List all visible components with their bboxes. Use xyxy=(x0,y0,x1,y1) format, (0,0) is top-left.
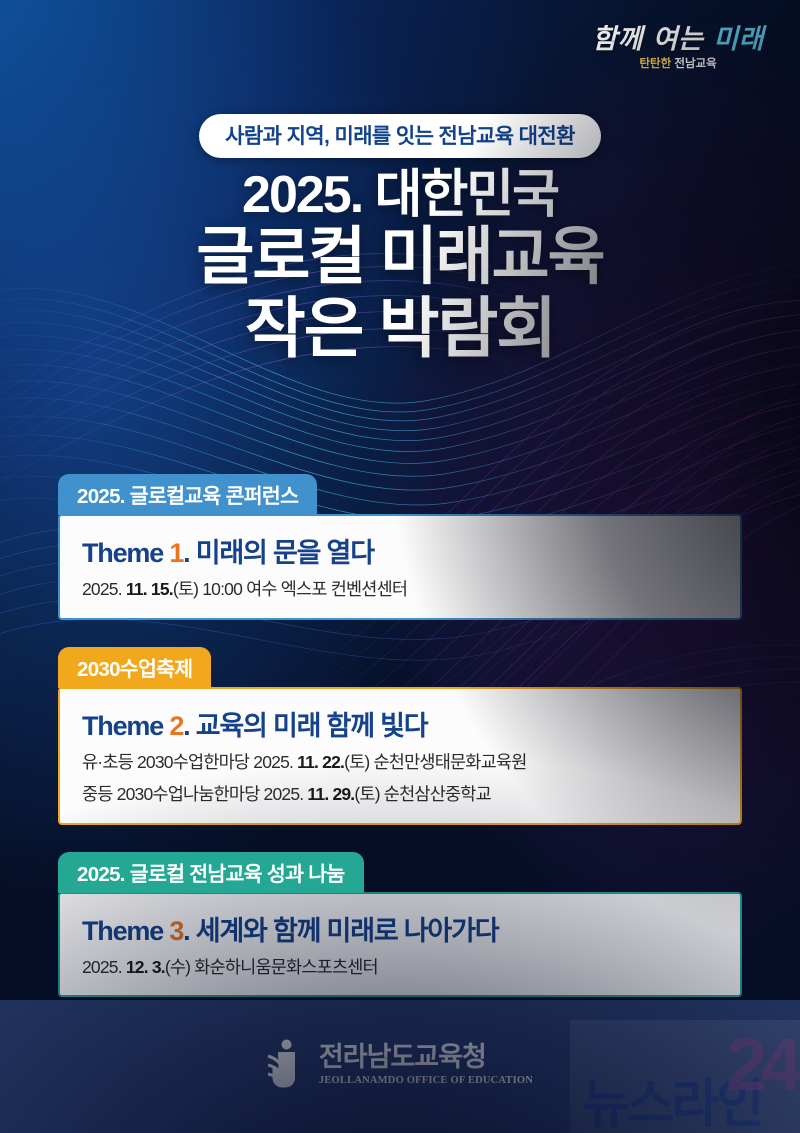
theme-title: Theme 1. 미래의 문을 열다 xyxy=(82,531,718,570)
page-title: 2025. 대한민국 글로컬 미래교육 작은 박람회 xyxy=(0,168,800,365)
brand-logo: 함께 여는 미래 탄탄한 전남교육 xyxy=(592,26,764,71)
title-line-3: 작은 박람회 xyxy=(0,292,800,365)
brand-subtitle-highlight: 탄탄한 xyxy=(639,58,674,70)
detail-post: (토) 10:00 여수 엑스포 컨벤션센터 xyxy=(173,579,407,599)
theme-number: 3 xyxy=(169,916,183,946)
detail-post: (토) 순천삼산중학교 xyxy=(354,784,491,804)
brand-subtitle: 탄탄한 전남교육 xyxy=(592,59,764,71)
detail-pre: 2025. xyxy=(82,579,126,599)
organization-name: 전라남도교육청 JEOLLANAMDO OFFICE OF EDUCATION xyxy=(319,1044,533,1087)
theme-prefix: Theme xyxy=(82,711,169,741)
theme-suffix: . 교육의 미래 함께 빛다 xyxy=(183,711,427,741)
news-watermark: 뉴스라인 24 xyxy=(570,1020,800,1133)
detail-date: 11. 22. xyxy=(297,752,344,772)
title-line-2: 글로컬 미래교육 xyxy=(0,223,800,292)
theme-detail-line: 2025. 12. 3.(수) 화순하니움문화스포츠센터 xyxy=(82,955,718,980)
theme-title: Theme 3. 세계와 함께 미래로 나아가다 xyxy=(82,909,718,948)
theme-card[interactable]: 2025. 글로컬 전남교육 성과 나눔 Theme 3. 세계와 함께 미래로… xyxy=(58,852,742,999)
theme-suffix: . 미래의 문을 열다 xyxy=(183,538,374,568)
theme-card[interactable]: 2025. 글로컬교육 콘퍼런스 Theme 1. 미래의 문을 열다 2025… xyxy=(58,474,742,621)
detail-post: (토) 순천만생태문화교육원 xyxy=(344,752,526,772)
brand-subtitle-rest: 전남교육 xyxy=(674,58,716,70)
tagline-pill: 사람과 지역, 미래를 잇는 전남교육 대전환 xyxy=(0,114,800,158)
theme-detail-line: 2025. 11. 15.(토) 10:00 여수 엑스포 컨벤션센터 xyxy=(82,577,718,602)
theme-prefix: Theme xyxy=(82,916,169,946)
detail-post: (수) 화순하니움문화스포츠센터 xyxy=(165,957,378,977)
org-name-korean: 전라남도교육청 xyxy=(319,1044,533,1071)
theme-detail-line: 유·초등 2030수업한마당 2025. 11. 22.(토) 순천만생태문화교… xyxy=(82,750,718,775)
theme-detail-line: 중등 2030수업나눔한마당 2025. 11. 29.(토) 순천삼산중학교 xyxy=(82,782,718,807)
org-name-english: JEOLLANAMDO OFFICE OF EDUCATION xyxy=(319,1076,533,1087)
tagline-text: 사람과 지역, 미래를 잇는 전남교육 대전환 xyxy=(199,114,601,158)
theme-card-tab: 2025. 글로컬 전남교육 성과 나눔 xyxy=(58,852,364,893)
watermark-number: 24 xyxy=(726,1022,796,1107)
poster-canvas: 함께 여는 미래 탄탄한 전남교육 사람과 지역, 미래를 잇는 전남교육 대전… xyxy=(0,0,800,1133)
theme-card[interactable]: 2030수업축제 Theme 2. 교육의 미래 함께 빛다 유·초등 2030… xyxy=(58,647,742,826)
theme-title: Theme 2. 교육의 미래 함께 빛다 xyxy=(82,704,718,743)
detail-pre: 중등 2030수업나눔한마당 2025. xyxy=(82,784,307,804)
theme-card-list: 2025. 글로컬교육 콘퍼런스 Theme 1. 미래의 문을 열다 2025… xyxy=(58,474,742,1024)
theme-card-tab: 2025. 글로컬교육 콘퍼런스 xyxy=(58,474,317,515)
theme-card-panel: Theme 1. 미래의 문을 열다 2025. 11. 15.(토) 10:0… xyxy=(58,514,742,620)
theme-card-panel: Theme 2. 교육의 미래 함께 빛다 유·초등 2030수업한마당 202… xyxy=(58,687,742,825)
theme-card-panel: Theme 3. 세계와 함께 미래로 나아가다 2025. 12. 3.(수)… xyxy=(58,892,742,998)
detail-pre: 유·초등 2030수업한마당 2025. xyxy=(82,752,297,772)
theme-card-tab: 2030수업축제 xyxy=(58,647,211,688)
detail-date: 11. 29. xyxy=(307,784,354,804)
theme-number: 2 xyxy=(169,711,183,741)
theme-suffix: . 세계와 함께 미래로 나아가다 xyxy=(183,916,498,946)
theme-number: 1 xyxy=(169,538,183,568)
title-line-1: 2025. 대한민국 xyxy=(0,168,800,223)
brand-script-accent: 미래 xyxy=(713,24,764,55)
detail-date: 11. 15. xyxy=(126,579,173,599)
brand-script-part1: 함께 여는 xyxy=(592,24,713,55)
brand-script-logo: 함께 여는 미래 xyxy=(592,26,764,53)
detail-date: 12. 3. xyxy=(126,957,165,977)
jeollanamdo-education-emblem-icon xyxy=(267,1038,305,1092)
theme-prefix: Theme xyxy=(82,538,169,568)
detail-pre: 2025. xyxy=(82,957,126,977)
